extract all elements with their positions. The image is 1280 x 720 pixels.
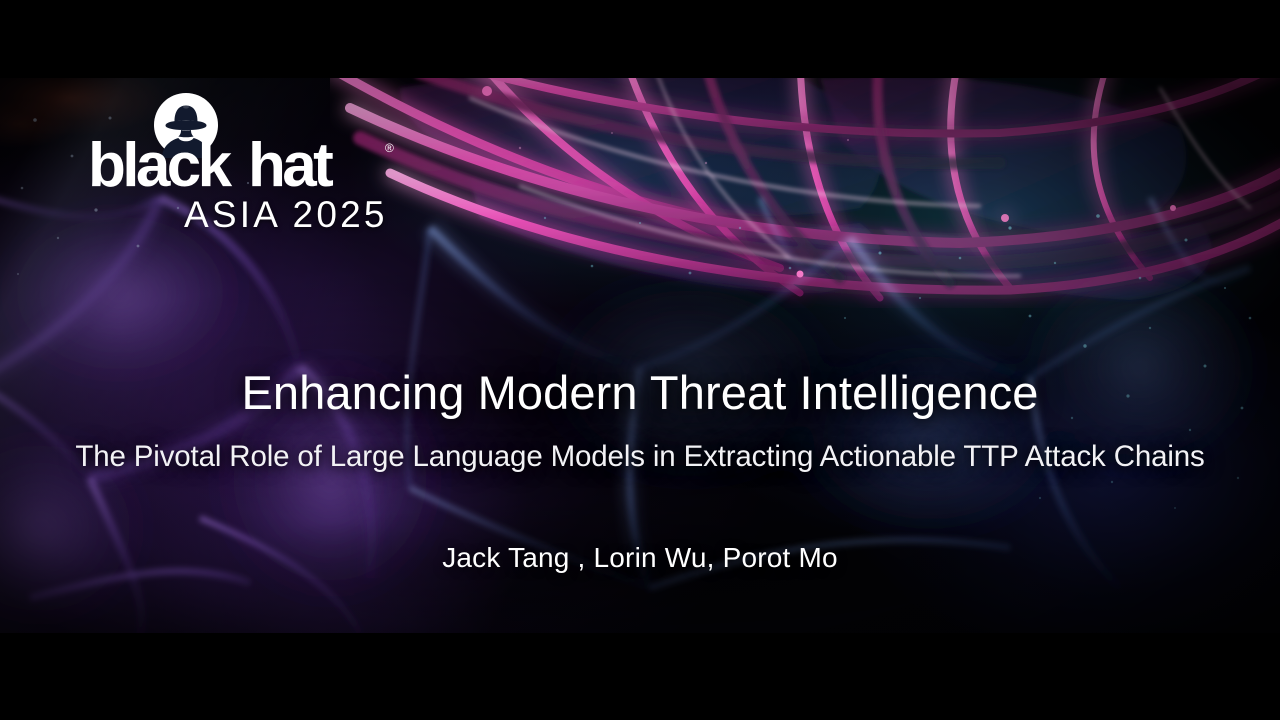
letterbox-top-bar bbox=[0, 0, 1280, 78]
black-hat-wordmark: black hat ® bbox=[88, 134, 438, 200]
wordmark-hat-text: hat bbox=[248, 134, 333, 200]
wordmark-black-text: black bbox=[88, 134, 233, 200]
presentation-slide: black hat ® ASIA 2025 Enhancing Modern T… bbox=[0, 0, 1280, 720]
page-title: Enhancing Modern Threat Intelligence bbox=[0, 368, 1280, 419]
registered-trademark-icon: ® bbox=[385, 141, 394, 155]
authors-line: Jack Tang , Lorin Wu, Porot Mo bbox=[0, 543, 1280, 574]
letterbox-bottom-bar bbox=[0, 633, 1280, 720]
page-subtitle: The Pivotal Role of Large Language Model… bbox=[0, 440, 1280, 473]
logo-edition-label: ASIA 2025 bbox=[184, 196, 444, 233]
